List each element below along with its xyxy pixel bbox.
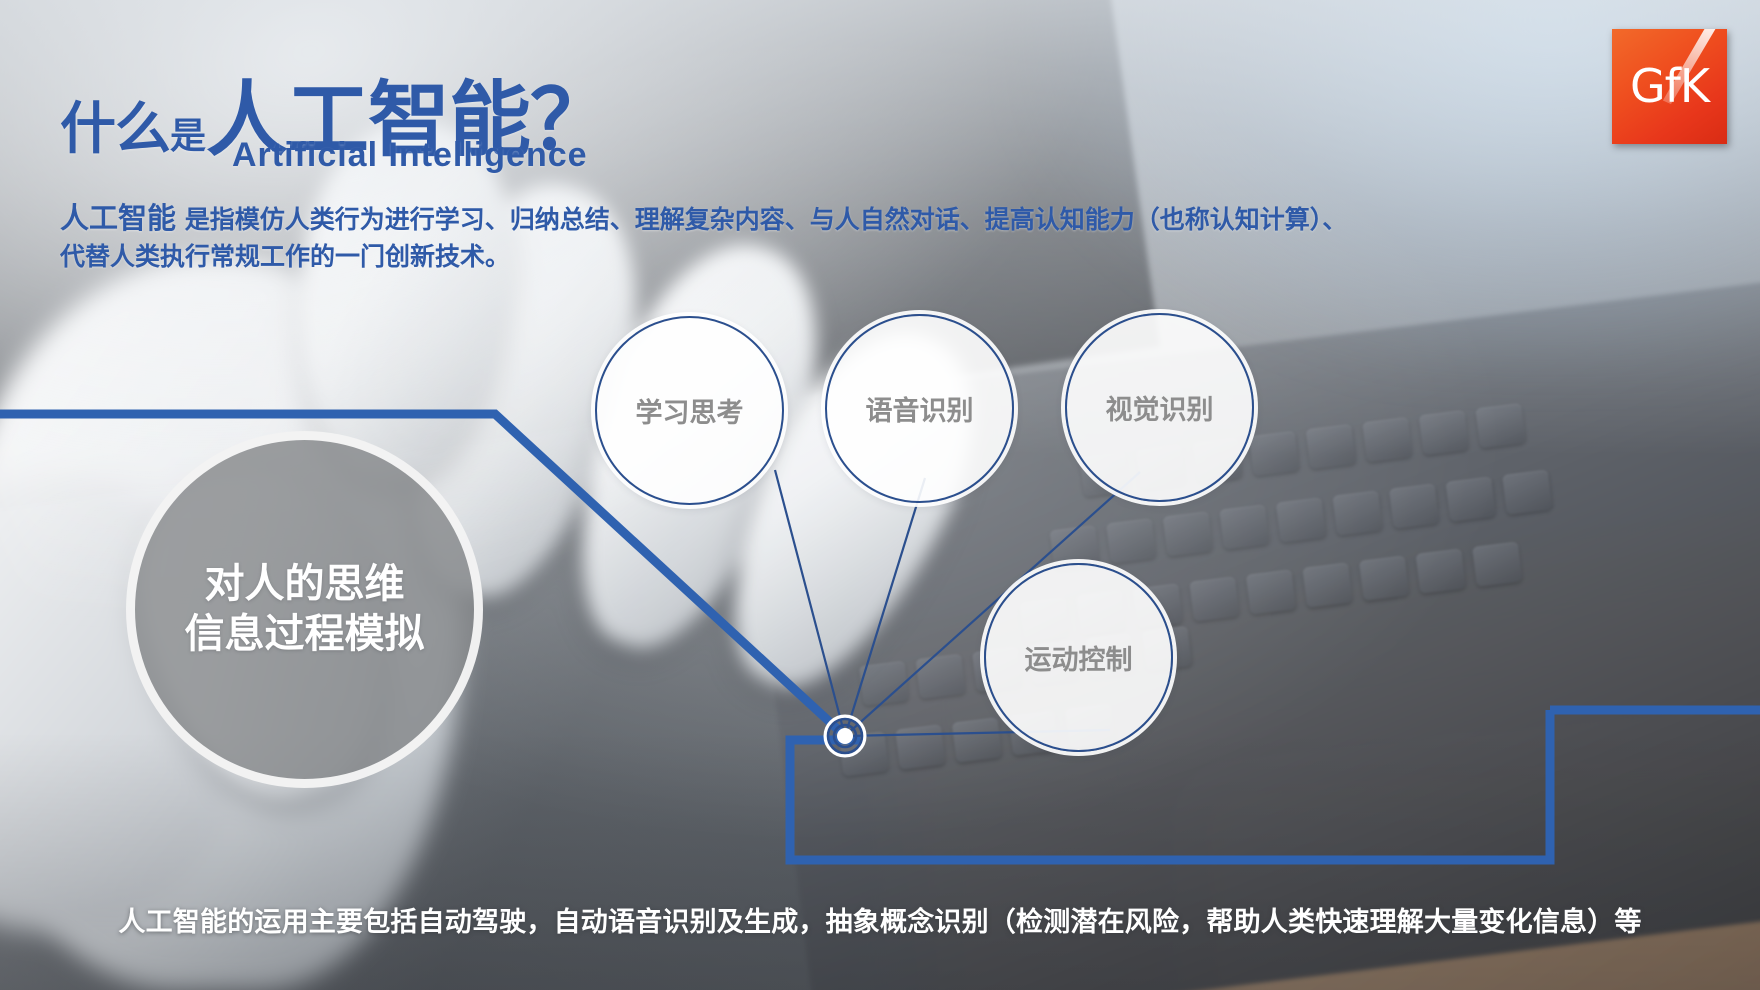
capability-label-speech: 语音识别 bbox=[866, 389, 974, 428]
main-concept-line-1: 对人的思维 bbox=[185, 560, 425, 610]
ray-to-learning bbox=[775, 470, 845, 736]
ray-to-speech bbox=[845, 478, 925, 736]
capability-label-motion: 运动控制 bbox=[1025, 638, 1133, 677]
connector-hub-elbow bbox=[790, 710, 1550, 860]
slide-canvas: GfK 什么是人工智能？ Artificial Intelligence 人工智… bbox=[0, 0, 1760, 990]
main-concept-line-2: 信息过程模拟 bbox=[185, 610, 425, 660]
capability-circle-motion[interactable]: 运动控制 bbox=[984, 563, 1173, 752]
capability-circle-vision[interactable]: 视觉识别 bbox=[1065, 313, 1254, 502]
main-concept-text: 对人的思维 信息过程模拟 bbox=[185, 560, 425, 659]
capability-label-vision: 视觉识别 bbox=[1106, 388, 1214, 427]
main-concept-circle[interactable]: 对人的思维 信息过程模拟 bbox=[126, 431, 483, 788]
capability-circle-learning[interactable]: 学习思考 bbox=[595, 316, 784, 505]
connector-hub-box bbox=[790, 740, 860, 790]
footer-caption: 人工智能的运用主要包括自动驾驶，自动语音识别及生成，抽象概念识别（检测潜在风险，… bbox=[0, 900, 1760, 939]
hub-node-core bbox=[837, 728, 853, 744]
capability-circle-speech[interactable]: 语音识别 bbox=[825, 314, 1014, 503]
capability-label-learning: 学习思考 bbox=[636, 391, 744, 430]
